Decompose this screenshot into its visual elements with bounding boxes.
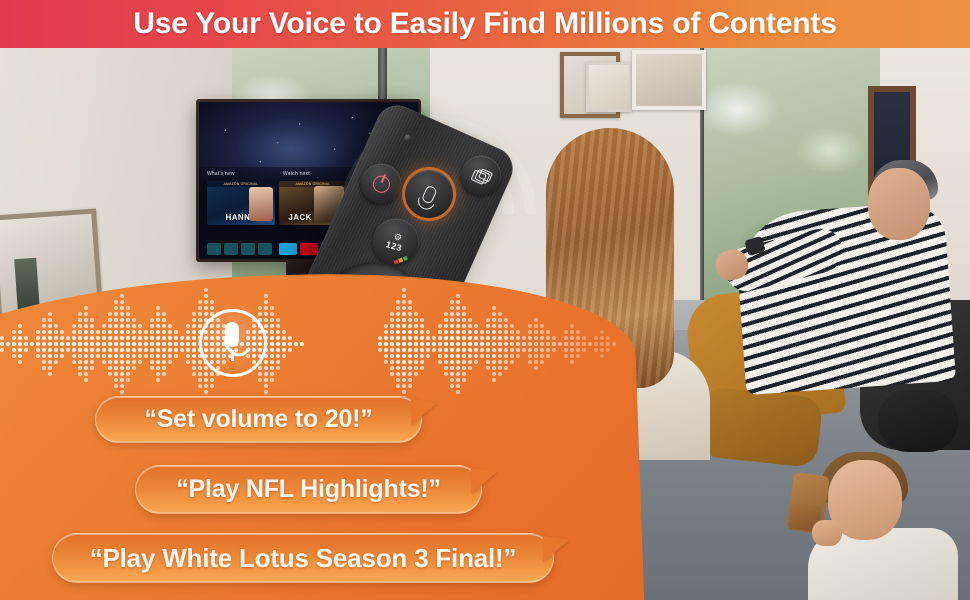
- promo-image-root: What's new Watch next AMAZON ORIGINAL HA…: [0, 0, 970, 600]
- waveform-dot: [450, 366, 454, 370]
- waveform-dot: [600, 342, 604, 346]
- waveform-dot: [78, 354, 82, 358]
- waveform-dot: [570, 360, 574, 364]
- waveform-dot: [156, 372, 160, 376]
- waveform-dot: [588, 342, 592, 346]
- waveform-dot: [378, 342, 382, 346]
- waveform-dot: [456, 390, 460, 394]
- waveform-dot: [378, 336, 382, 340]
- waveform-dot: [42, 360, 46, 364]
- waveform-dot: [42, 330, 46, 334]
- waveform-dot: [126, 378, 130, 382]
- waveform-dot: [198, 300, 202, 304]
- waveform-dot: [150, 336, 154, 340]
- waveform-dot: [180, 348, 184, 352]
- waveform-dot: [138, 360, 142, 364]
- waveform-dot: [462, 354, 466, 358]
- waveform-dot: [408, 336, 412, 340]
- waveform-dot: [396, 330, 400, 334]
- waveform-dot: [108, 336, 112, 340]
- waveform-dot: [108, 366, 112, 370]
- waveform-dot: [396, 378, 400, 382]
- waveform-dot: [36, 342, 40, 346]
- waveform-dot: [498, 342, 502, 346]
- waveform-dot: [18, 348, 22, 352]
- waveform-dot: [132, 348, 136, 352]
- waveform-dot: [54, 324, 58, 328]
- waveform-dot: [528, 348, 532, 352]
- microphone-badge: [193, 303, 271, 381]
- waveform-dot: [456, 366, 460, 370]
- waveform-dot: [438, 342, 442, 346]
- waveform-dot: [30, 342, 34, 346]
- waveform-dot: [594, 348, 598, 352]
- waveform-dot: [420, 360, 424, 364]
- waveform-dot: [390, 342, 394, 346]
- waveform-dot: [150, 330, 154, 334]
- waveform-dot: [108, 318, 112, 322]
- waveform-dot: [444, 312, 448, 316]
- waveform-dot: [138, 342, 142, 346]
- framed-art: [586, 62, 632, 112]
- waveform-dot: [84, 360, 88, 364]
- waveform-dot: [468, 354, 472, 358]
- waveform-dot: [498, 372, 502, 376]
- waveform-dot: [54, 360, 58, 364]
- waveform-dot: [402, 294, 406, 298]
- waveform-dot: [84, 330, 88, 334]
- tv-tile-badge: AMAZON ORIGINAL: [207, 181, 275, 187]
- waveform-dot: [462, 360, 466, 364]
- waveform-dot: [402, 384, 406, 388]
- waveform-dot: [510, 330, 514, 334]
- waveform-dot: [486, 348, 490, 352]
- waveform-dot: [414, 312, 418, 316]
- waveform-dot: [168, 324, 172, 328]
- waveform-dot: [66, 336, 70, 340]
- waveform-dot: [402, 360, 406, 364]
- waveform-dot: [48, 342, 52, 346]
- waveform-dot: [126, 372, 130, 376]
- waveform-dot: [456, 306, 460, 310]
- waveform-dot: [42, 348, 46, 352]
- waveform-dot: [120, 390, 124, 394]
- waveform-dot: [402, 312, 406, 316]
- waveform-dot: [396, 300, 400, 304]
- waveform-dot: [144, 342, 148, 346]
- waveform-dot: [120, 312, 124, 316]
- waveform-dot: [384, 348, 388, 352]
- waveform-dot: [486, 324, 490, 328]
- waveform-dot: [108, 360, 112, 364]
- voice-command-bubble-2: “Play NFL Highlights!”: [135, 465, 482, 514]
- waveform-dot: [114, 336, 118, 340]
- waveform-dot: [48, 354, 52, 358]
- source-input-icon: [471, 166, 491, 185]
- waveform-dot: [426, 342, 430, 346]
- waveform-dot: [108, 354, 112, 358]
- waveform-dot: [432, 348, 436, 352]
- waveform-dot: [72, 360, 76, 364]
- waveform-dot: [390, 330, 394, 334]
- waveform-dot: [444, 348, 448, 352]
- waveform-dot: [12, 354, 16, 358]
- waveform-dot: [72, 336, 76, 340]
- waveform-dot: [264, 384, 268, 388]
- waveform-dot: [204, 384, 208, 388]
- waveform-dot: [396, 354, 400, 358]
- waveform-dot: [258, 378, 262, 382]
- waveform-dot: [456, 330, 460, 334]
- waveform-dot: [156, 324, 160, 328]
- tv-tile[interactable]: AMAZON ORIGINAL HANNA: [207, 181, 275, 225]
- waveform-dot: [18, 324, 22, 328]
- waveform-dot: [198, 306, 202, 310]
- waveform-dot: [132, 354, 136, 358]
- voice-mic-button[interactable]: [397, 162, 460, 225]
- waveform-dot: [78, 324, 82, 328]
- waveform-dot: [126, 366, 130, 370]
- waveform-dot: [108, 330, 112, 334]
- waveform-dot: [516, 354, 520, 358]
- waveform-dot: [606, 336, 610, 340]
- waveform-dot: [138, 324, 142, 328]
- waveform-dot: [378, 348, 382, 352]
- waveform-dot: [126, 336, 130, 340]
- waveform-dot: [390, 336, 394, 340]
- waveform-dot: [600, 336, 604, 340]
- waveform-dot: [60, 348, 64, 352]
- waveform-dot: [114, 384, 118, 388]
- waveform-dot: [498, 360, 502, 364]
- waveform-dot: [126, 312, 130, 316]
- waveform-dot: [450, 342, 454, 346]
- waveform-dot: [54, 342, 58, 346]
- waveform-dot: [528, 330, 532, 334]
- waveform-dot: [120, 384, 124, 388]
- waveform-dot: [456, 354, 460, 358]
- waveform-dot: [474, 342, 478, 346]
- waveform-dot: [384, 324, 388, 328]
- waveform-dot: [192, 360, 196, 364]
- waveform-dot: [198, 372, 202, 376]
- waveform-dot: [108, 348, 112, 352]
- waveform-dot: [456, 312, 460, 316]
- waveform-dot: [534, 348, 538, 352]
- waveform-dot: [408, 330, 412, 334]
- waveform-dot: [456, 378, 460, 382]
- source-button[interactable]: [455, 149, 508, 202]
- waveform-dot: [504, 366, 508, 370]
- waveform-dot: [114, 378, 118, 382]
- waveform-dot: [264, 378, 268, 382]
- waveform-dot: [144, 336, 148, 340]
- waveform-dot: [486, 342, 490, 346]
- waveform-dot: [492, 372, 496, 376]
- waveform-dot: [450, 300, 454, 304]
- waveform-dot: [504, 354, 508, 358]
- waveform-dot: [462, 348, 466, 352]
- waveform-dot: [150, 324, 154, 328]
- waveform-dot: [210, 378, 214, 382]
- waveform-dot: [594, 336, 598, 340]
- waveform-dot: [516, 342, 520, 346]
- waveform-dot: [78, 312, 82, 316]
- waveform-dot: [492, 330, 496, 334]
- waveform-dot: [276, 342, 280, 346]
- waveform-dot: [456, 342, 460, 346]
- waveform-dot: [120, 324, 124, 328]
- waveform-dot: [414, 348, 418, 352]
- waveform-dot: [168, 336, 172, 340]
- waveform-dot: [36, 348, 40, 352]
- waveform-dot: [390, 354, 394, 358]
- waveform-dot: [48, 312, 52, 316]
- waveform-dot: [612, 342, 616, 346]
- waveform-dot: [438, 330, 442, 334]
- waveform-dot: [156, 348, 160, 352]
- waveform-dot: [84, 336, 88, 340]
- waveform-dot: [480, 342, 484, 346]
- waveform-dot: [186, 324, 190, 328]
- waveform-dot: [492, 342, 496, 346]
- waveform-dot: [408, 324, 412, 328]
- waveform-dot: [114, 330, 118, 334]
- waveform-dot: [504, 348, 508, 352]
- waveform-dot: [528, 342, 532, 346]
- waveform-dot: [468, 330, 472, 334]
- waveform-dot: [150, 348, 154, 352]
- waveform-dot: [60, 336, 64, 340]
- waveform-dot: [162, 342, 166, 346]
- waveform-dot: [126, 360, 130, 364]
- waveform-dot: [264, 300, 268, 304]
- waveform-dot: [384, 360, 388, 364]
- waveform-dot: [498, 336, 502, 340]
- waveform-dot: [480, 354, 484, 358]
- audio-waveform-dots: [0, 310, 640, 380]
- waveform-dot: [534, 336, 538, 340]
- waveform-dot: [582, 342, 586, 346]
- waveform-dot: [462, 324, 466, 328]
- waveform-dot: [204, 300, 208, 304]
- waveform-dot: [468, 324, 472, 328]
- waveform-dot: [78, 372, 82, 376]
- waveform-dot: [522, 342, 526, 346]
- waveform-dot: [504, 342, 508, 346]
- waveform-dot: [498, 348, 502, 352]
- waveform-dot: [534, 366, 538, 370]
- waveform-dot: [468, 366, 472, 370]
- waveform-dot: [72, 348, 76, 352]
- waveform-dot: [72, 342, 76, 346]
- waveform-dot: [186, 342, 190, 346]
- waveform-dot: [276, 354, 280, 358]
- waveform-dot: [78, 360, 82, 364]
- waveform-dot: [576, 330, 580, 334]
- waveform-dot: [84, 318, 88, 322]
- waveform-dot: [528, 324, 532, 328]
- waveform-dot: [432, 342, 436, 346]
- waveform-dot: [138, 348, 142, 352]
- waveform-dot: [132, 366, 136, 370]
- voice-command-text: “Play NFL Highlights!”: [176, 475, 441, 504]
- waveform-dot: [486, 318, 490, 322]
- waveform-dot: [84, 372, 88, 376]
- waveform-dot: [462, 372, 466, 376]
- waveform-dot: [534, 342, 538, 346]
- tv-tile-title: HANNA: [207, 213, 275, 222]
- waveform-dot: [126, 318, 130, 322]
- waveform-dot: [474, 354, 478, 358]
- waveform-dot: [126, 354, 130, 358]
- waveform-dot: [174, 342, 178, 346]
- waveform-dot: [54, 348, 58, 352]
- waveform-dot: [144, 354, 148, 358]
- header-banner: Use Your Voice to Easily Find Millions o…: [0, 0, 970, 48]
- waveform-dot: [78, 348, 82, 352]
- waveform-dot: [444, 324, 448, 328]
- waveform-dot: [48, 360, 52, 364]
- waveform-dot: [564, 348, 568, 352]
- waveform-dot: [408, 372, 412, 376]
- waveform-dot: [516, 330, 520, 334]
- waveform-dot: [390, 360, 394, 364]
- waveform-dot: [186, 336, 190, 340]
- waveform-dot: [492, 324, 496, 328]
- waveform-dot: [444, 372, 448, 376]
- waveform-dot: [120, 300, 124, 304]
- waveform-dot: [450, 354, 454, 358]
- waveform-dot: [534, 324, 538, 328]
- waveform-dot: [444, 354, 448, 358]
- waveform-dot: [450, 330, 454, 334]
- waveform-dot: [168, 354, 172, 358]
- waveform-dot: [510, 348, 514, 352]
- waveform-dot: [270, 348, 274, 352]
- waveform-dot: [408, 318, 412, 322]
- waveform-dot: [414, 324, 418, 328]
- waveform-dot: [564, 354, 568, 358]
- waveform-dot: [114, 372, 118, 376]
- waveform-dot: [414, 360, 418, 364]
- bubble-tail: [543, 536, 569, 562]
- waveform-dot: [0, 336, 4, 340]
- waveform-dot: [18, 342, 22, 346]
- waveform-dot: [276, 366, 280, 370]
- waveform-dot: [564, 330, 568, 334]
- waveform-dot: [444, 330, 448, 334]
- waveform-dot: [498, 366, 502, 370]
- waveform-dot: [408, 300, 412, 304]
- waveform-dot: [486, 354, 490, 358]
- waveform-dot: [156, 342, 160, 346]
- waveform-dot: [528, 354, 532, 358]
- waveform-dot: [120, 360, 124, 364]
- waveform-dot: [510, 342, 514, 346]
- waveform-dot: [42, 366, 46, 370]
- waveform-dot: [132, 360, 136, 364]
- waveform-dot: [426, 336, 430, 340]
- waveform-dot: [540, 348, 544, 352]
- tv-row-label-watch-next: Watch next: [283, 171, 310, 177]
- waveform-dot: [210, 300, 214, 304]
- waveform-dot: [84, 306, 88, 310]
- waveform-dot: [6, 342, 10, 346]
- voice-command-bubble-3: “Play White Lotus Season 3 Final!”: [52, 533, 554, 583]
- waveform-dot: [420, 354, 424, 358]
- bubble-tail: [411, 399, 437, 425]
- waveform-dot: [102, 342, 106, 346]
- waveform-dot: [480, 336, 484, 340]
- waveform-dot: [540, 342, 544, 346]
- waveform-dot: [396, 348, 400, 352]
- waveform-dot: [150, 318, 154, 322]
- waveform-dot: [438, 336, 442, 340]
- waveform-dot: [282, 348, 286, 352]
- waveform-dot: [102, 324, 106, 328]
- waveform-dot: [18, 360, 22, 364]
- waveform-dot: [120, 294, 124, 298]
- waveform-dot: [576, 336, 580, 340]
- waveform-dot: [174, 330, 178, 334]
- waveform-dot: [396, 366, 400, 370]
- waveform-dot: [120, 354, 124, 358]
- waveform-dot: [534, 360, 538, 364]
- waveform-dot: [276, 324, 280, 328]
- waveform-dot: [438, 354, 442, 358]
- waveform-dot: [156, 336, 160, 340]
- waveform-dot: [156, 360, 160, 364]
- waveform-dot: [402, 342, 406, 346]
- waveform-dot: [420, 342, 424, 346]
- waveform-dot: [594, 342, 598, 346]
- waveform-dot: [198, 312, 202, 316]
- page-title: Use Your Voice to Easily Find Millions o…: [133, 7, 836, 41]
- waveform-dot: [534, 318, 538, 322]
- waveform-dot: [162, 360, 166, 364]
- waveform-dot: [390, 312, 394, 316]
- waveform-dot: [120, 318, 124, 322]
- waveform-dot: [492, 318, 496, 322]
- waveform-dot: [168, 348, 172, 352]
- waveform-dot: [114, 300, 118, 304]
- waveform-dot: [270, 312, 274, 316]
- waveform-dot: [270, 378, 274, 382]
- waveform-dot: [402, 378, 406, 382]
- waveform-dot: [456, 348, 460, 352]
- waveform-dot: [450, 306, 454, 310]
- waveform-dot: [168, 330, 172, 334]
- waveform-dot: [510, 360, 514, 364]
- waveform-dot: [108, 342, 112, 346]
- waveform-dot: [474, 330, 478, 334]
- waveform-dot: [450, 360, 454, 364]
- power-button[interactable]: [355, 157, 408, 210]
- waveform-dot: [552, 336, 556, 340]
- waveform-dot: [462, 378, 466, 382]
- waveform-dot: [114, 324, 118, 328]
- waveform-dot: [78, 342, 82, 346]
- waveform-dot: [414, 372, 418, 376]
- waveform-dot: [72, 330, 76, 334]
- waveform-dot: [270, 366, 274, 370]
- waveform-dot: [528, 336, 532, 340]
- waveform-dot: [186, 348, 190, 352]
- waveform-dot: [390, 348, 394, 352]
- waveform-dot: [156, 378, 160, 382]
- waveform-dot: [120, 366, 124, 370]
